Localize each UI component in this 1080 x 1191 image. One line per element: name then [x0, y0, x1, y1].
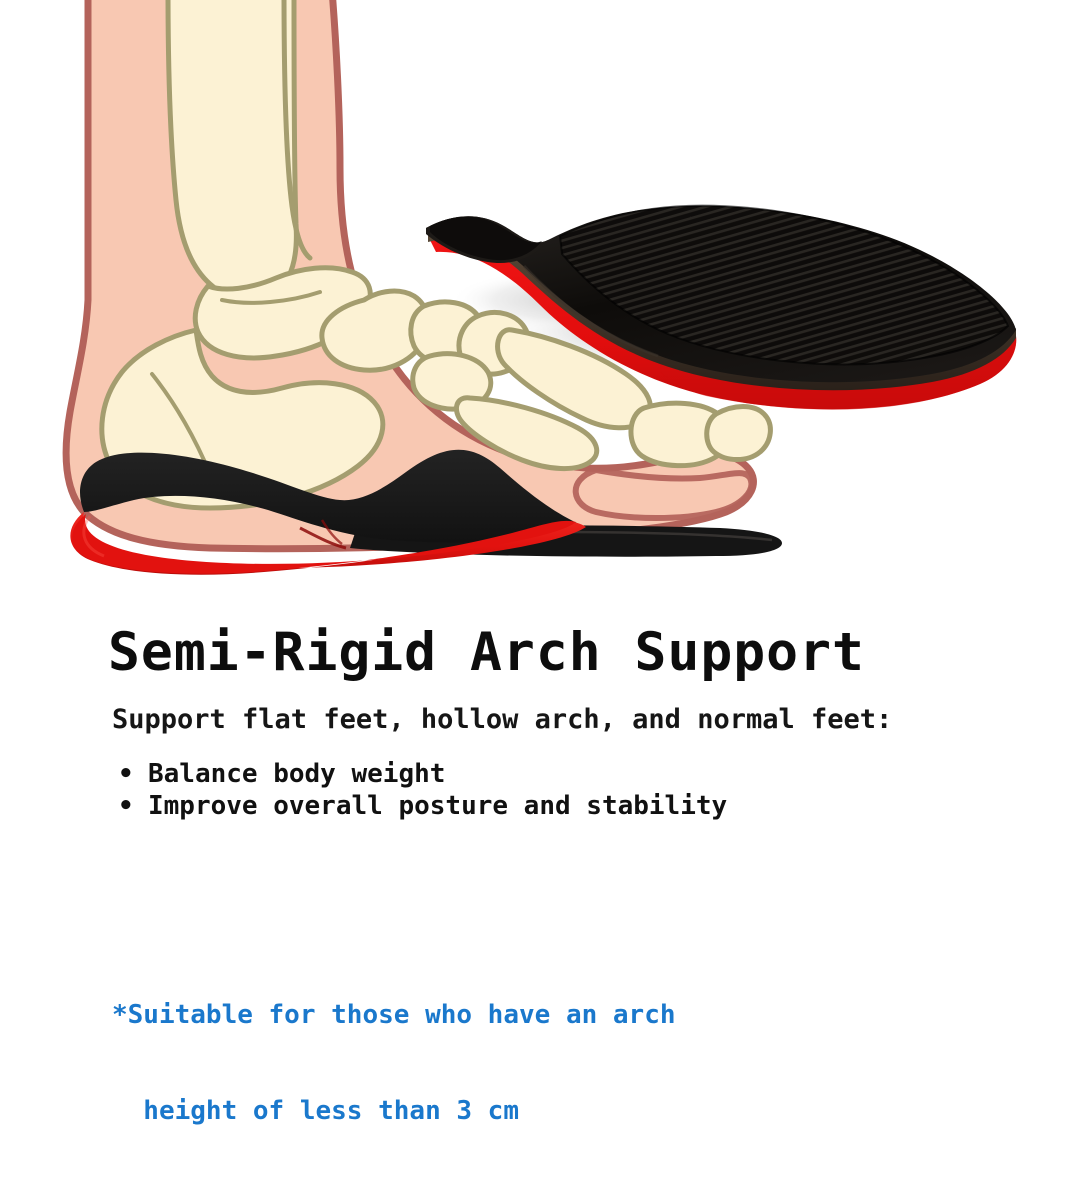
- list-item-label: Improve overall posture and stability: [148, 791, 727, 821]
- poster-canvas: Semi-Rigid Arch Support Support flat fee…: [0, 0, 1080, 1080]
- footnote: *Suitable for those who have an arch hei…: [112, 935, 676, 1191]
- illustration-area: [0, 0, 1080, 600]
- footnote-line-2: height of less than 3 cm: [112, 1095, 676, 1127]
- subtitle: Support flat feet, hollow arch, and norm…: [112, 704, 892, 735]
- toe-pad-skin: [576, 470, 752, 518]
- phalanx-distal: [707, 407, 771, 460]
- foot-anatomy-illustration: [0, 0, 1080, 600]
- list-item: • Improve overall posture and stability: [112, 790, 727, 822]
- bullet-icon: •: [118, 758, 134, 790]
- list-item: • Balance body weight: [112, 758, 727, 790]
- list-item-label: Balance body weight: [148, 759, 445, 789]
- bullet-icon: •: [118, 790, 134, 822]
- text-content: Semi-Rigid Arch Support Support flat fee…: [0, 600, 1080, 1080]
- footnote-line-1: *Suitable for those who have an arch: [112, 999, 676, 1031]
- benefits-list: • Balance body weight • Improve overall …: [112, 758, 727, 822]
- page-title: Semi-Rigid Arch Support: [108, 622, 865, 683]
- tibia-bone: [168, 0, 296, 301]
